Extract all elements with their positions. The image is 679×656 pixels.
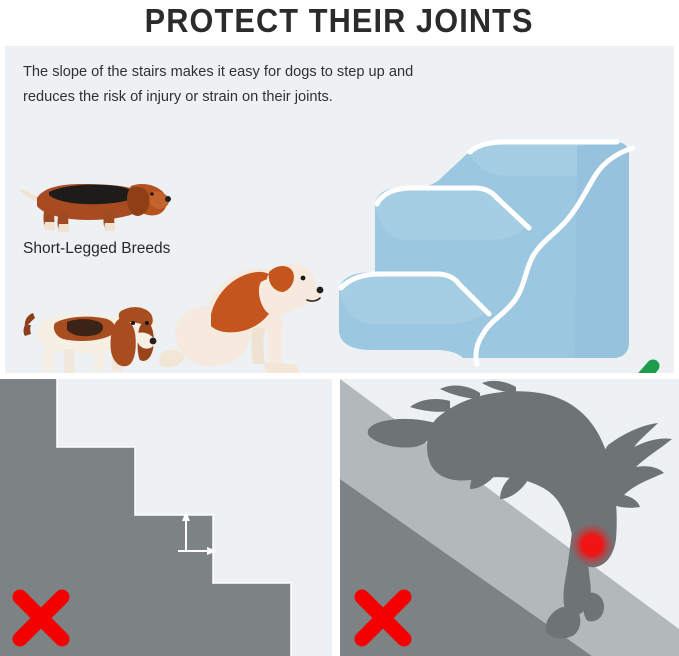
dog-jumping-down-ramp-silhouette	[340, 379, 679, 656]
label-short-legged-breeds: Short-Legged Breeds	[23, 240, 170, 258]
bottom-right-panel	[340, 379, 679, 656]
dachshund-dog-illustration	[19, 158, 171, 234]
green-check-icon	[593, 358, 663, 373]
blue-three-step-pet-stairs-illustration	[327, 124, 649, 373]
infographic-page: PROTECT THEIR JOINTS The slope of the st…	[0, 0, 679, 656]
body-copy: The slope of the stairs makes it easy fo…	[23, 60, 503, 110]
body-line-2: reduces the risk of injury or strain on …	[23, 85, 503, 110]
bottom-left-panel: 90°	[0, 379, 332, 656]
top-panel: The slope of the stairs makes it easy fo…	[5, 46, 674, 373]
title-bar: PROTECT THEIR JOINTS	[0, 0, 679, 42]
sitting-dog-illustration	[157, 258, 325, 373]
gray-staircase-silhouette	[0, 379, 332, 656]
basset-hound-dog-illustration	[21, 289, 161, 373]
body-line-1: The slope of the stairs makes it easy fo…	[23, 60, 503, 85]
page-title: PROTECT THEIR JOINTS	[145, 2, 534, 40]
